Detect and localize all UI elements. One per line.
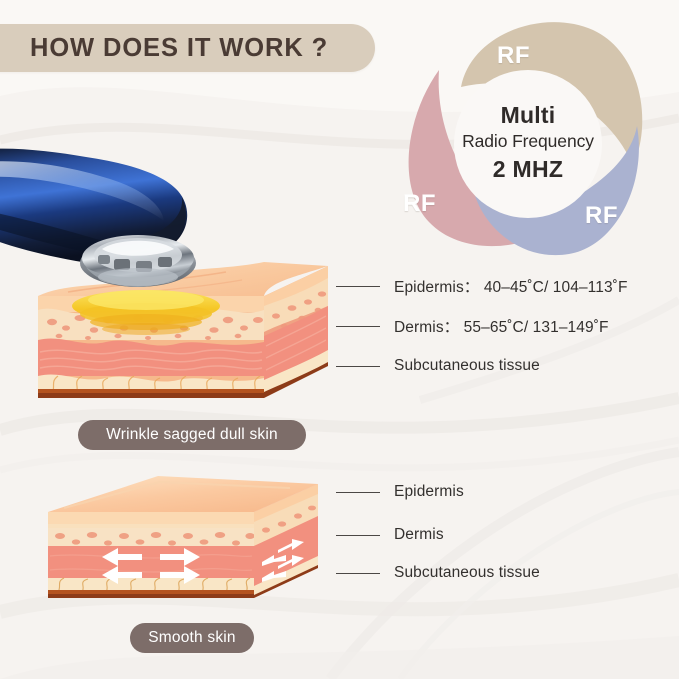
callout-label: Epidermis [394,483,464,501]
skin-side-face [264,266,328,400]
infographic-page: HOW DOES IT WORK ? RF RF RF Multi Radio … [0,0,679,679]
callout-label: Dermis [394,526,444,544]
callout-label: Subcutaneous tissue [394,564,540,582]
leader-line [336,326,380,327]
skin-diagram-smooth [40,462,340,614]
leader-line [336,573,380,574]
callout-epidermis-temp: Epidermis： 40–45˚C/ 104–113˚F [336,275,628,297]
leader-line [336,492,380,493]
leader-line [336,535,380,536]
callout-subcutaneous-tissue: Subcutaneous tissue [336,564,540,582]
callout-epidermis: Epidermis [336,483,464,501]
chrome-treatment-head [80,235,196,287]
caption-smooth-skin: Smooth skin [130,623,254,653]
callout-dermis: Dermis [336,526,444,544]
rf-device-wand [0,85,260,290]
callout-label: Epidermis： 40–45˚C/ 104–113˚F [394,275,628,297]
callout-label: Subcutaneous tissue [394,357,540,375]
callout-subcutaneous: Subcutaneous tissue [336,357,540,375]
leader-line [336,286,380,287]
leader-line [336,366,380,367]
caption-wrinkle-sagged-dull-skin: Wrinkle sagged dull skin [78,420,306,450]
callout-label: Dermis： 55–65˚C/ 131–149˚F [394,315,609,337]
header-banner: HOW DOES IT WORK ? [0,24,375,72]
rf-triangle-logo: RF RF RF Multi Radio Frequency 2 MHZ [393,14,663,259]
rf-center-disc [454,70,602,218]
callout-dermis-temp: Dermis： 55–65˚C/ 131–149˚F [336,315,609,337]
page-title: HOW DOES IT WORK ? [30,34,328,63]
rf-petals-graphic [393,14,663,259]
smooth-front-face [48,512,255,600]
